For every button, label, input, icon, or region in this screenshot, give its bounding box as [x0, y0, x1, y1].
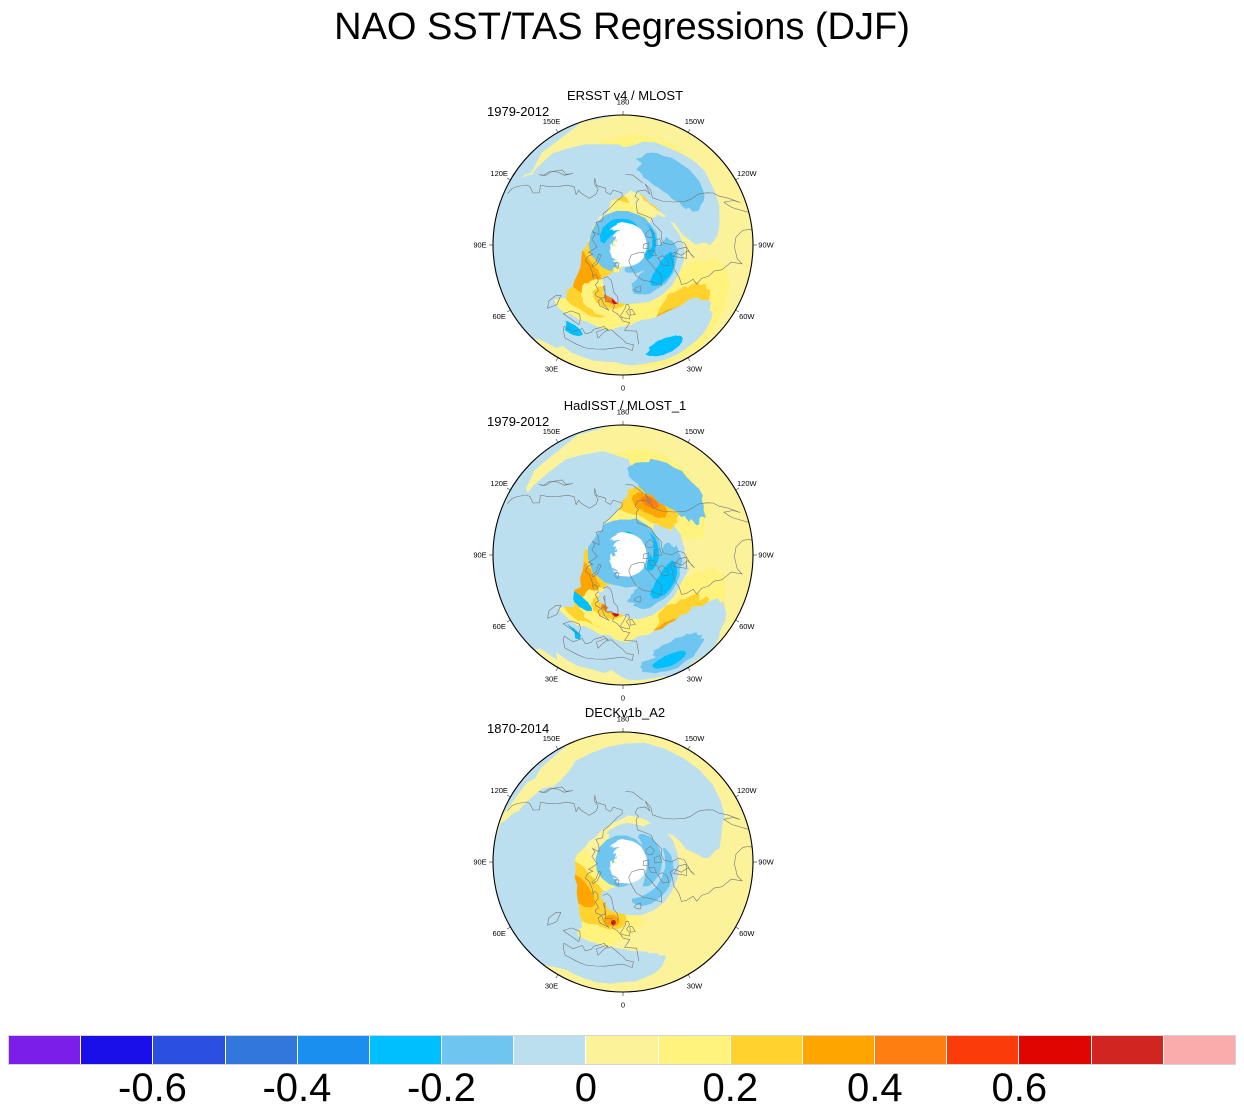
longitude-tick — [688, 975, 690, 978]
longitude-label: 60W — [739, 929, 755, 938]
longitude-tick — [556, 439, 558, 442]
longitude-label: 0 — [621, 1001, 625, 1010]
longitude-label: 60E — [493, 622, 506, 631]
longitude-label: 30E — [545, 364, 558, 373]
panel-map: 030E60E90E120E150E180150W120W90W60W30W19… — [360, 102, 890, 392]
longitude-label: 180 — [617, 715, 630, 724]
longitude-label: 120W — [737, 786, 758, 795]
longitude-label: 90W — [758, 551, 774, 560]
longitude-label: 150W — [685, 117, 706, 126]
longitude-tick — [688, 746, 690, 749]
longitude-label: 150W — [685, 734, 706, 743]
longitude-tick — [507, 795, 510, 797]
longitude-tick — [507, 178, 510, 180]
longitude-label: 120E — [490, 169, 508, 178]
colorbar-swatch — [442, 1036, 514, 1064]
colorbar-tick-label: 0.6 — [991, 1066, 1047, 1111]
colorbar-swatch — [947, 1036, 1019, 1064]
colorbar-swatch — [1164, 1036, 1235, 1064]
colorbar-swatch — [81, 1036, 153, 1064]
longitude-label: 90E — [473, 858, 486, 867]
colorbar-swatch — [370, 1036, 442, 1064]
longitude-label: 120E — [490, 479, 508, 488]
longitude-label: 30W — [687, 674, 703, 683]
colorbar — [8, 1035, 1236, 1065]
longitude-tick — [736, 178, 739, 180]
longitude-tick — [556, 746, 558, 749]
longitude-label: 90E — [473, 241, 486, 250]
panel-map: 030E60E90E120E150E180150W120W90W60W30W19… — [360, 412, 890, 702]
colorbar-tick-label: 0 — [575, 1066, 597, 1111]
longitude-label: 0 — [621, 384, 625, 393]
figure-root: NAO SST/TAS Regressions (DJF) ERSST v4 /… — [0, 0, 1244, 1116]
longitude-tick — [688, 439, 690, 442]
longitude-tick — [688, 129, 690, 132]
polar-map: 030E60E90E120E150E180150W120W90W60W30W — [360, 719, 890, 1009]
longitude-label: 90W — [758, 858, 774, 867]
colorbar-swatch — [586, 1036, 658, 1064]
colorbar-tick-label: -0.2 — [407, 1066, 476, 1111]
colorbar-tick-label: 0.2 — [703, 1066, 759, 1111]
longitude-tick — [507, 620, 510, 622]
longitude-tick — [507, 927, 510, 929]
colorbar-swatch — [9, 1036, 81, 1064]
colorbar-swatch — [1092, 1036, 1164, 1064]
longitude-label: 120W — [737, 479, 758, 488]
longitude-label: 60E — [493, 312, 506, 321]
colorbar-swatch — [803, 1036, 875, 1064]
colorbar-swatch — [153, 1036, 225, 1064]
longitude-label: 60E — [493, 929, 506, 938]
longitude-tick — [556, 129, 558, 132]
longitude-tick — [556, 358, 558, 361]
longitude-label: 30E — [545, 981, 558, 990]
longitude-label: 0 — [621, 694, 625, 703]
colorbar-swatch — [659, 1036, 731, 1064]
polar-map: 030E60E90E120E150E180150W120W90W60W30W — [360, 412, 890, 702]
colorbar-swatch — [875, 1036, 947, 1064]
longitude-label: 30E — [545, 674, 558, 683]
period-label: 1979-2012 — [487, 414, 549, 429]
longitude-label: 150W — [685, 427, 706, 436]
longitude-tick — [556, 975, 558, 978]
longitude-tick — [736, 488, 739, 490]
colorbar-swatch — [1019, 1036, 1091, 1064]
longitude-label: 90W — [758, 241, 774, 250]
colorbar-swatch — [731, 1036, 803, 1064]
colorbar-tick-label: -0.4 — [262, 1066, 331, 1111]
longitude-label: 120E — [490, 786, 508, 795]
longitude-tick — [688, 668, 690, 671]
longitude-tick — [556, 668, 558, 671]
longitude-label: 60W — [739, 312, 755, 321]
colorbar-tick-label: -0.6 — [118, 1066, 187, 1111]
colorbar-tick-labels: -0.6-0.4-0.200.20.40.6 — [0, 1066, 1244, 1114]
polar-map: 030E60E90E120E150E180150W120W90W60W30W — [360, 102, 890, 392]
longitude-label: 120W — [737, 169, 758, 178]
colorbar-swatch — [514, 1036, 586, 1064]
longitude-label: 30W — [687, 364, 703, 373]
longitude-label: 90E — [473, 551, 486, 560]
period-label: 1979-2012 — [487, 104, 549, 119]
colorbar-swatch — [226, 1036, 298, 1064]
longitude-label: 180 — [617, 408, 630, 417]
panel-map: 030E60E90E120E150E180150W120W90W60W30W18… — [360, 719, 890, 1009]
colorbar-swatch — [298, 1036, 370, 1064]
longitude-tick — [507, 310, 510, 312]
figure-title: NAO SST/TAS Regressions (DJF) — [0, 6, 1244, 49]
longitude-tick — [736, 795, 739, 797]
longitude-label: 30W — [687, 981, 703, 990]
period-label: 1870-2014 — [487, 721, 549, 736]
longitude-label: 60W — [739, 622, 755, 631]
longitude-tick — [507, 488, 510, 490]
longitude-label: 180 — [617, 98, 630, 107]
colorbar-tick-label: 0.4 — [847, 1066, 903, 1111]
longitude-tick — [688, 358, 690, 361]
